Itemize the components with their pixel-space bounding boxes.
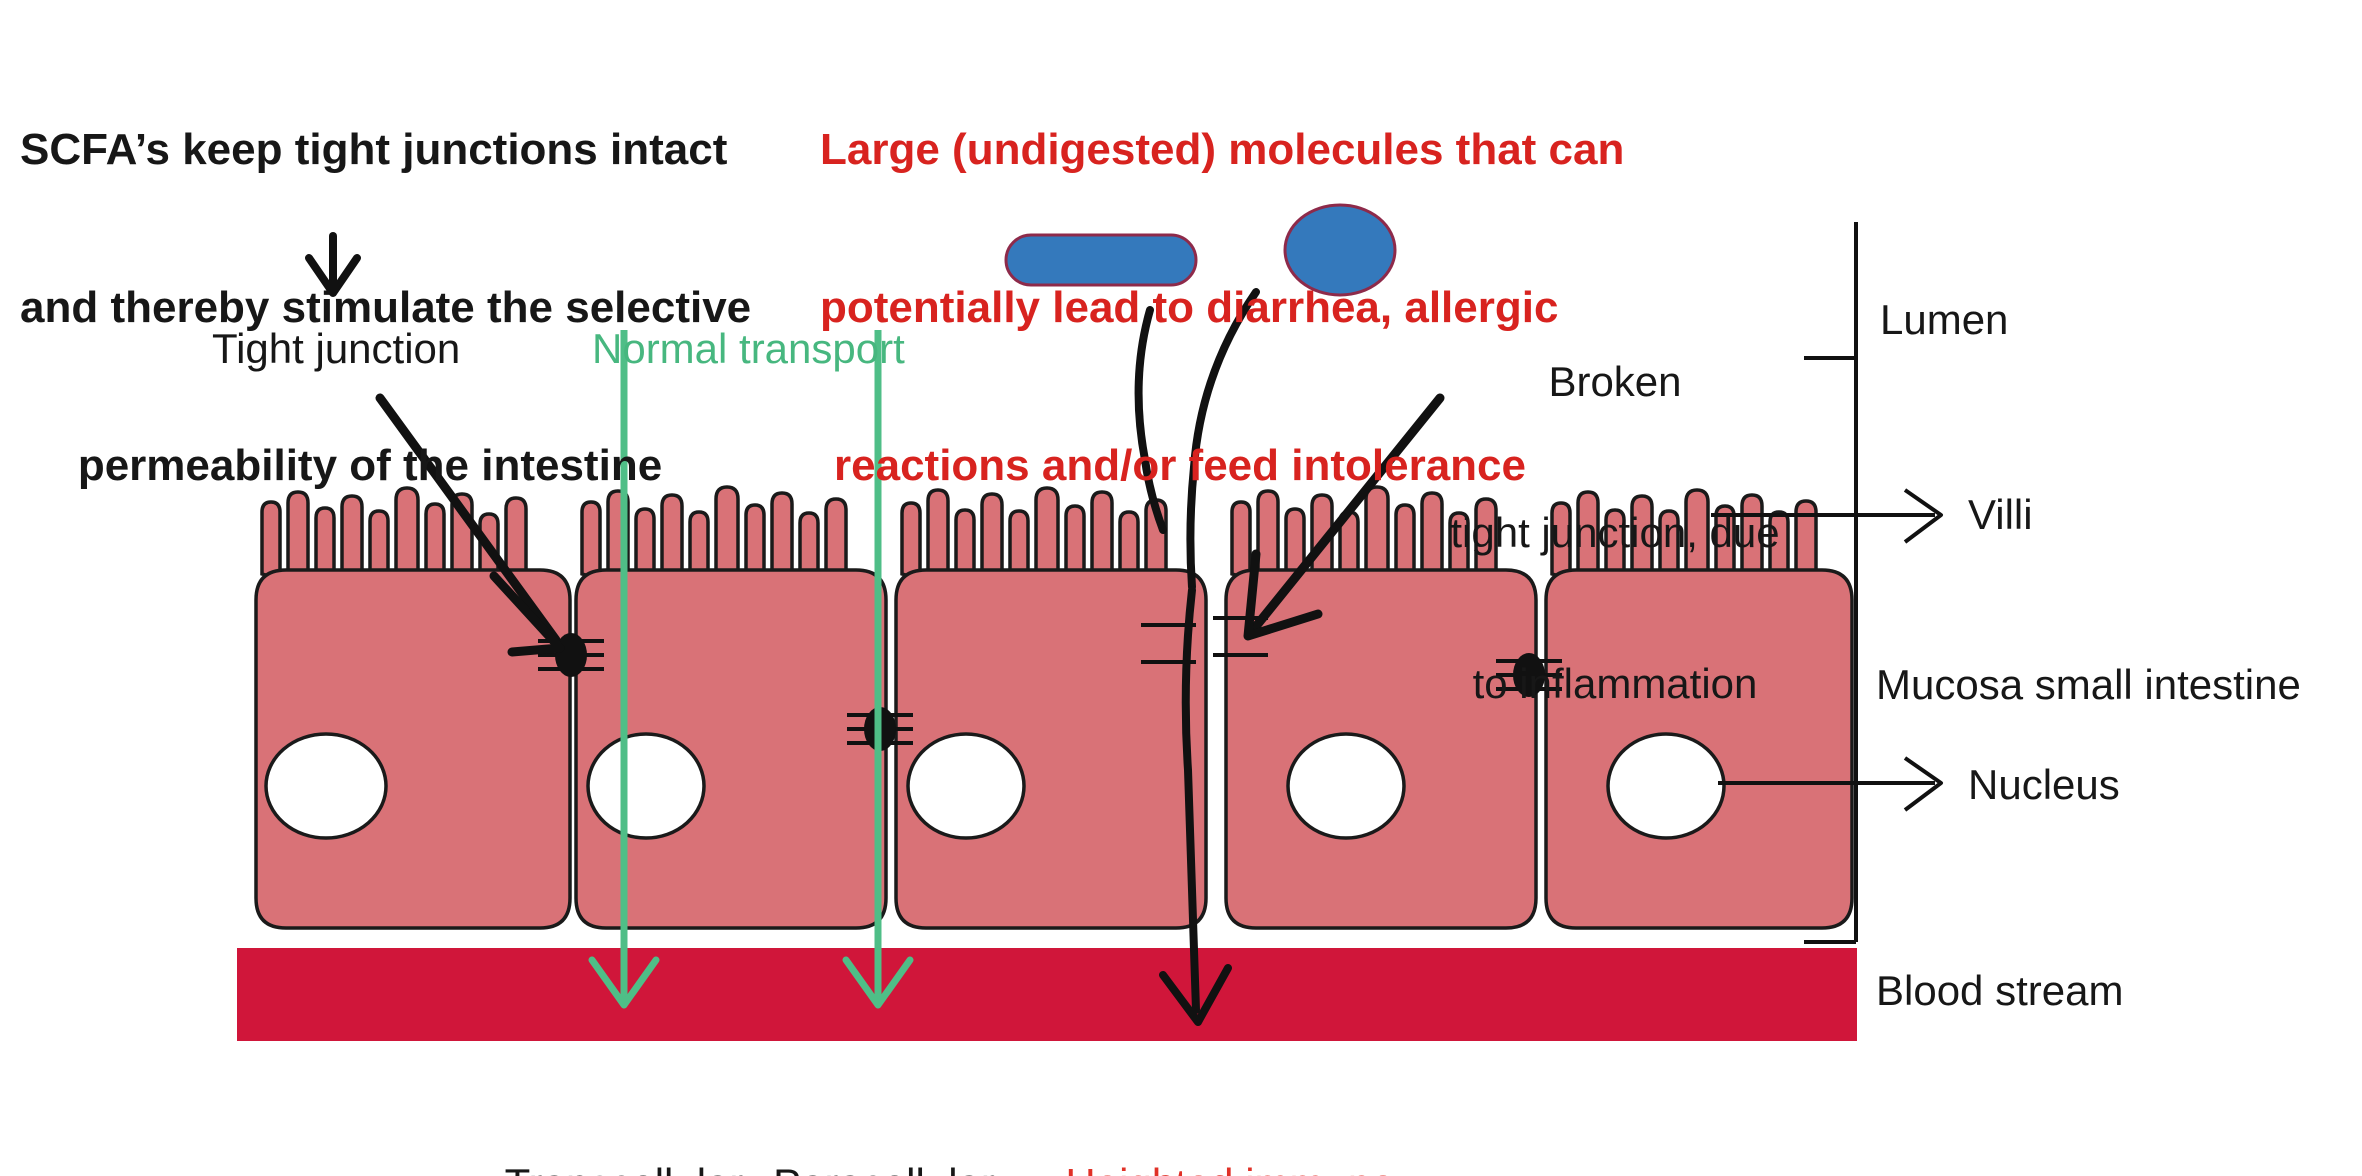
diagram-canvas: SCFA’s keep tight junctions intact and t… — [0, 0, 2362, 1176]
blood-stream-bar — [237, 948, 1857, 1041]
broken-tight-junction-label-line-1: Broken — [1400, 357, 1830, 407]
scfa-heading-line-3: permeability of the intestine — [20, 440, 720, 493]
paracellular-transport-label: Paracellular transport — [734, 1058, 1034, 1176]
nucleus — [266, 734, 386, 838]
mucosa-label: Mucosa small intestine — [1876, 660, 2301, 710]
heighted-immune-response-label-line-1: Heighted immune — [1040, 1159, 1420, 1176]
broken-tight-junction-label: Broken tight junction, due to inflammati… — [1400, 256, 1830, 810]
broken-tight-junction-label-line-3: to inflammation — [1400, 659, 1830, 709]
broken-tight-junction-label-line-2: tight junction, due — [1400, 508, 1830, 558]
villi-label: Villi — [1968, 490, 2033, 540]
scfa-heading: SCFA’s keep tight junctions intact and t… — [20, 18, 720, 599]
tight-junction-label: Tight junction — [212, 324, 460, 374]
scfa-heading-line-1: SCFA’s keep tight junctions intact — [20, 124, 720, 177]
nucleus — [908, 734, 1024, 838]
lumen-label: Lumen — [1880, 295, 2008, 345]
nucleus — [588, 734, 704, 838]
large-molecules-heading-line-1: Large (undigested) molecules that can — [820, 124, 1540, 177]
nucleus — [1288, 734, 1404, 838]
blood-stream-label: Blood stream — [1876, 966, 2123, 1016]
normal-transport-label: Normal transport — [592, 324, 905, 374]
heighted-immune-response-label: Heighted immune response — [1040, 1058, 1420, 1176]
nucleus-label: Nucleus — [1968, 760, 2120, 810]
paracellular-transport-label-line-1: Paracellular — [734, 1159, 1034, 1176]
